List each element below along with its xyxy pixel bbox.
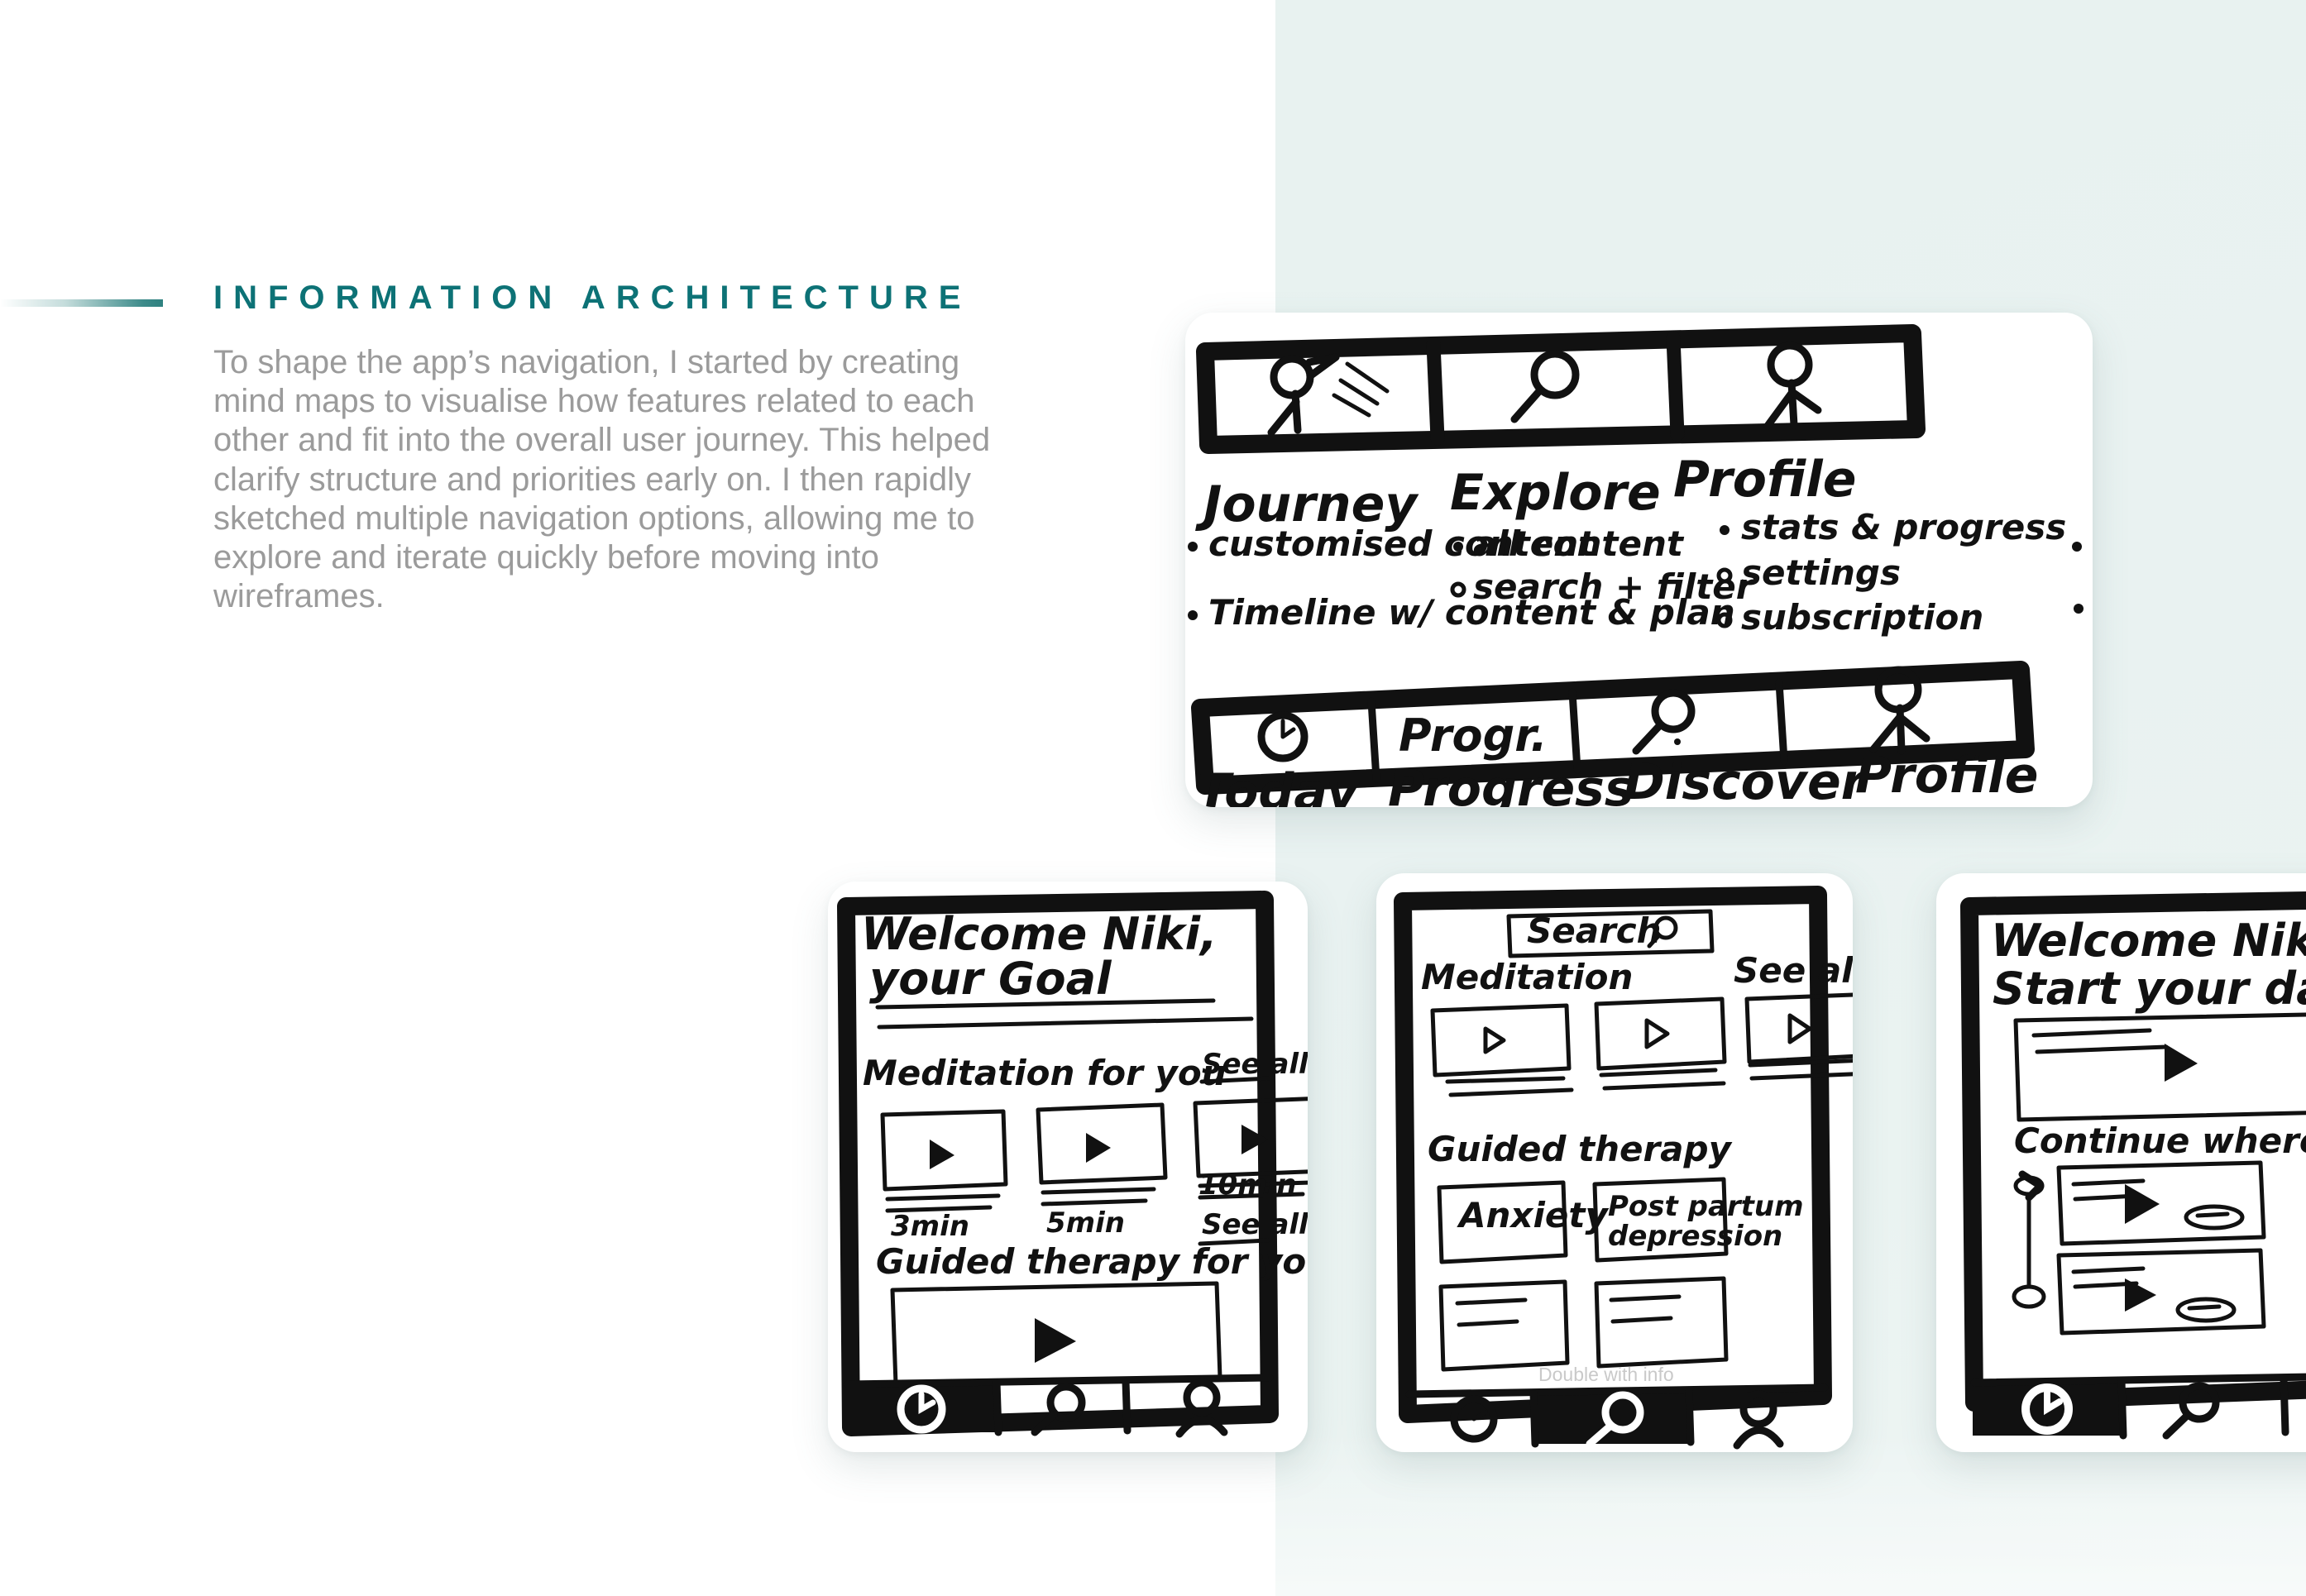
section-body-paragraph: To shape the app’s navigation, I started…: [213, 343, 991, 616]
mindmap-col3-item-1: settings: [1741, 552, 1901, 593]
phone-2-therapy-card-0-label: Anxiety: [1457, 1195, 1609, 1235]
background-bottom-fade: [1275, 1431, 2306, 1596]
phone-1-thumbnail-0: [883, 1111, 1006, 1211]
phone-2-annotation: Double with info: [1538, 1364, 1674, 1385]
person-icon: [1768, 346, 1818, 426]
phone-1-section-2-see-all: See all: [1202, 1208, 1308, 1241]
phone-2-section-1-see-all: See all: [1734, 950, 1853, 991]
phone-3-section-title: Continue where you left: [2014, 1121, 2306, 1161]
phone-3-progress-rail: [2014, 1174, 2044, 1307]
mindmap-col2-title: Explore: [1450, 464, 1661, 522]
sketch-card-mindmap[interactable]: Journey Explore Profile customised conte…: [1185, 313, 2093, 807]
phone-3-sketch: Welcome Niki, Start your day, 3min Conti…: [1936, 873, 2306, 1452]
phone-2-therapy-card-0: Anxiety: [1439, 1183, 1609, 1262]
phone-2-therapy-card-3: [1596, 1278, 1726, 1366]
mindmap-col2-item-1: search + filter: [1473, 566, 1755, 607]
phone-2-search-field: Search: [1509, 910, 1712, 956]
phone-2-section-1-title: Meditation: [1421, 957, 1633, 997]
phone-2-sketch: Search Meditation See all: [1376, 873, 1853, 1452]
phone-1-hero-card: [892, 1283, 1220, 1384]
mindmap-top-nav: [1205, 333, 1916, 445]
mindmap-bottom-label-0: Today: [1197, 763, 1361, 807]
sketch-card-phone-home[interactable]: Welcome Niki, your Goal Meditation for y…: [828, 882, 1308, 1452]
mindmap-col2-item-0: all content: [1473, 523, 1685, 564]
phone-3-continue-card-1: [2059, 1250, 2264, 1333]
phone-1-duration-2: 10min: [1198, 1168, 1297, 1202]
mindmap-bottom-nav-progr: Progr.: [1399, 710, 1548, 762]
mindmap-col3-item-2: subscription: [1741, 597, 1983, 638]
phone-2-thumbnail-1: [1596, 999, 1725, 1088]
phone-3-hero-card: 3min: [2016, 1012, 2306, 1120]
mindmap-col3-title: Profile: [1673, 451, 1856, 509]
phone-1-sketch: Welcome Niki, your Goal Meditation for y…: [828, 882, 1308, 1452]
phone-3-continue-card-0: [2059, 1163, 2264, 1244]
mindmap-bottom-label-3: Profile: [1855, 747, 2038, 805]
sketch-card-phone-today[interactable]: Welcome Niki, Start your day, 3min Conti…: [1936, 873, 2306, 1452]
section-eyebrow-title: INFORMATION ARCHITECTURE: [213, 280, 971, 317]
phone-1-duration-1: 5min: [1046, 1207, 1125, 1240]
mindmap-bottom-label-2: Discover: [1624, 753, 1868, 807]
clock-icon: [1261, 715, 1304, 758]
phone-2-therapy-card-1-label-a: Post partum: [1608, 1190, 1804, 1223]
mindmap-col3-item-0: stats & progress: [1741, 507, 2066, 547]
section-accent-rule: [0, 299, 163, 307]
phone-3-greeting-line-2: Start your day,: [1993, 963, 2306, 1015]
magnifier-icon: [1514, 354, 1576, 419]
section-body-copy: To shape the app’s navigation, I started…: [213, 343, 991, 616]
phone-1-section-1-title: Meditation for you: [863, 1053, 1227, 1093]
sketch-card-phone-explore[interactable]: Search Meditation See all: [1376, 873, 1853, 1452]
phone-1-section-2-title: Guided therapy for you: [876, 1241, 1308, 1282]
mindmap-bottom-label-1: Progress: [1388, 760, 1634, 807]
phone-3-greeting-line-1: Welcome Niki,: [1991, 915, 2306, 967]
phone-1-greeting-line-2: your Goal: [869, 953, 1112, 1005]
phone-2-therapy-card-2: [1441, 1282, 1567, 1369]
phone-2-section-2-title: Guided therapy: [1428, 1129, 1733, 1169]
magnifier-icon: [1636, 693, 1691, 751]
phone-2-therapy-card-1: Post partum depression: [1595, 1179, 1804, 1260]
phone-1-thumbnail-1: [1038, 1105, 1165, 1204]
phone-2-therapy-card-1-label-b: depression: [1608, 1220, 1782, 1253]
mindmap-sketch: Journey Explore Profile customised conte…: [1185, 313, 2093, 807]
phone-1-duration-0: 3min: [891, 1210, 969, 1243]
phone-2-thumbnail-2: [1747, 994, 1853, 1078]
phone-2-search-placeholder: Search: [1527, 910, 1662, 951]
phone-1-section-1-see-all: See all: [1202, 1048, 1308, 1081]
person-running-icon: [1271, 357, 1387, 432]
slide-canvas: INFORMATION ARCHITECTURE To shape the ap…: [0, 0, 2306, 1596]
phone-2-thumbnail-0: [1433, 1006, 1572, 1095]
